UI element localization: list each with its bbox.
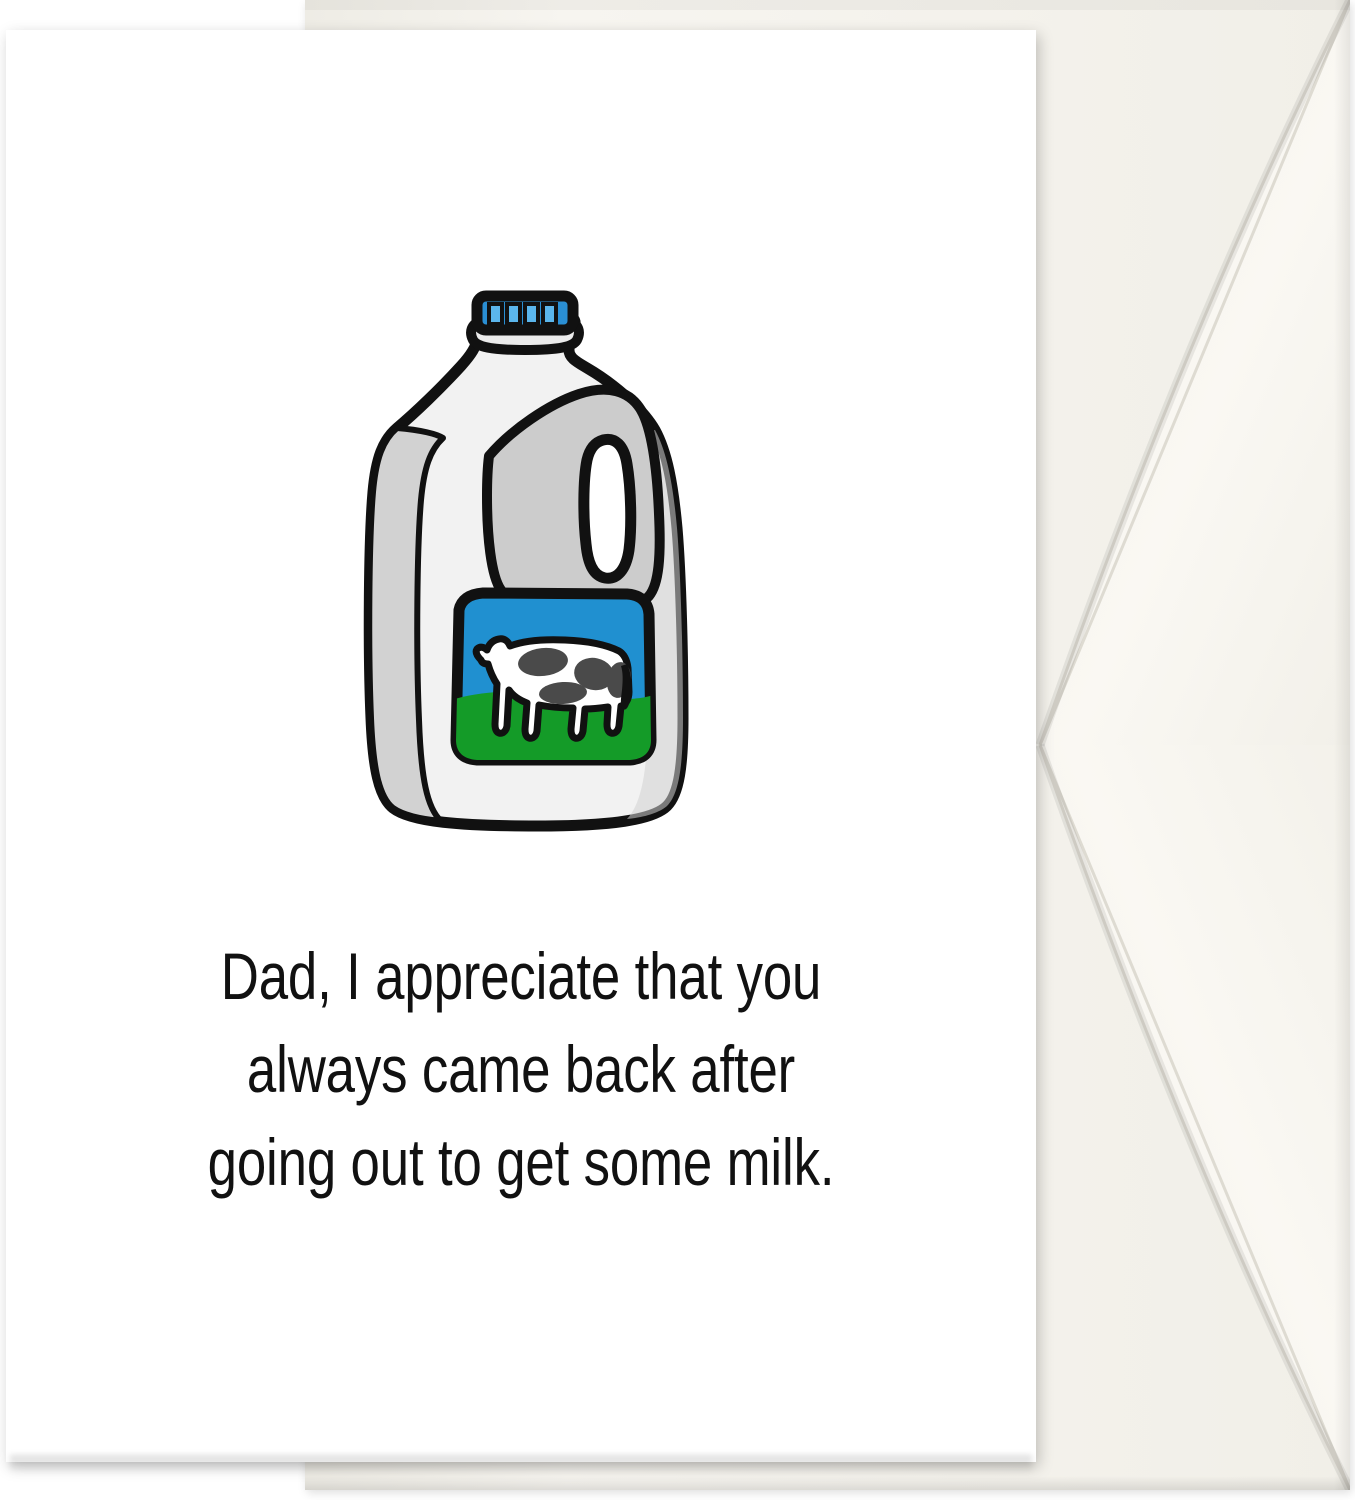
milk-jug-illustration [311,288,731,868]
envelope-right-edge-shading [1334,0,1350,1490]
card-face: Dad, I appreciate that you always came b… [6,30,1036,1462]
cow-pasture-label [451,593,656,768]
envelope-bottom-edge-shading [305,1476,1350,1490]
product-photo-scene: Dad, I appreciate that you always came b… [0,0,1355,1500]
caption-line-1: Dad, I appreciate that you [109,930,933,1023]
greeting-card: Dad, I appreciate that you always came b… [6,30,1036,1462]
card-drop-shadow [10,1455,1032,1473]
card-caption: Dad, I appreciate that you always came b… [109,930,933,1209]
label-scene [451,639,656,768]
milk-jug-svg [311,288,731,868]
caption-line-3: going out to get some milk. [109,1116,933,1209]
jug-cap [477,296,573,330]
caption-line-2: always came back after [109,1023,933,1116]
